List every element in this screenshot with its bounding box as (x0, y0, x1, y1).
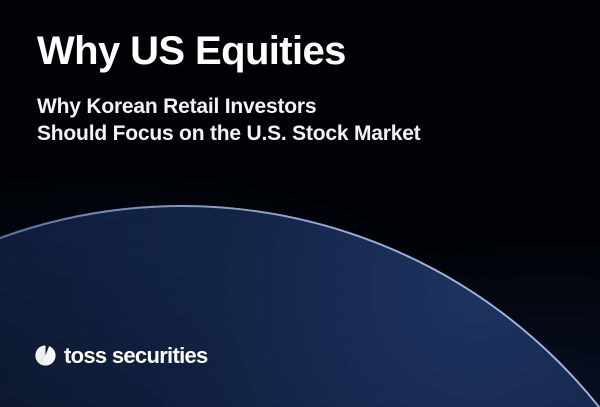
page-subtitle-line-2: Should Focus on the U.S. Stock Market (37, 120, 420, 147)
page-subtitle-line-1: Why Korean Retail Investors (37, 93, 420, 120)
brand-name: toss securities (64, 344, 208, 367)
presentation-slide: Why US Equities Why Korean Retail Invest… (0, 0, 600, 407)
page-subtitle: Why Korean Retail Investors Should Focus… (37, 93, 420, 147)
page-title: Why US Equities (37, 29, 346, 73)
toss-split-circle-icon (34, 344, 57, 367)
brand-logo-lockup: toss securities (34, 344, 208, 367)
